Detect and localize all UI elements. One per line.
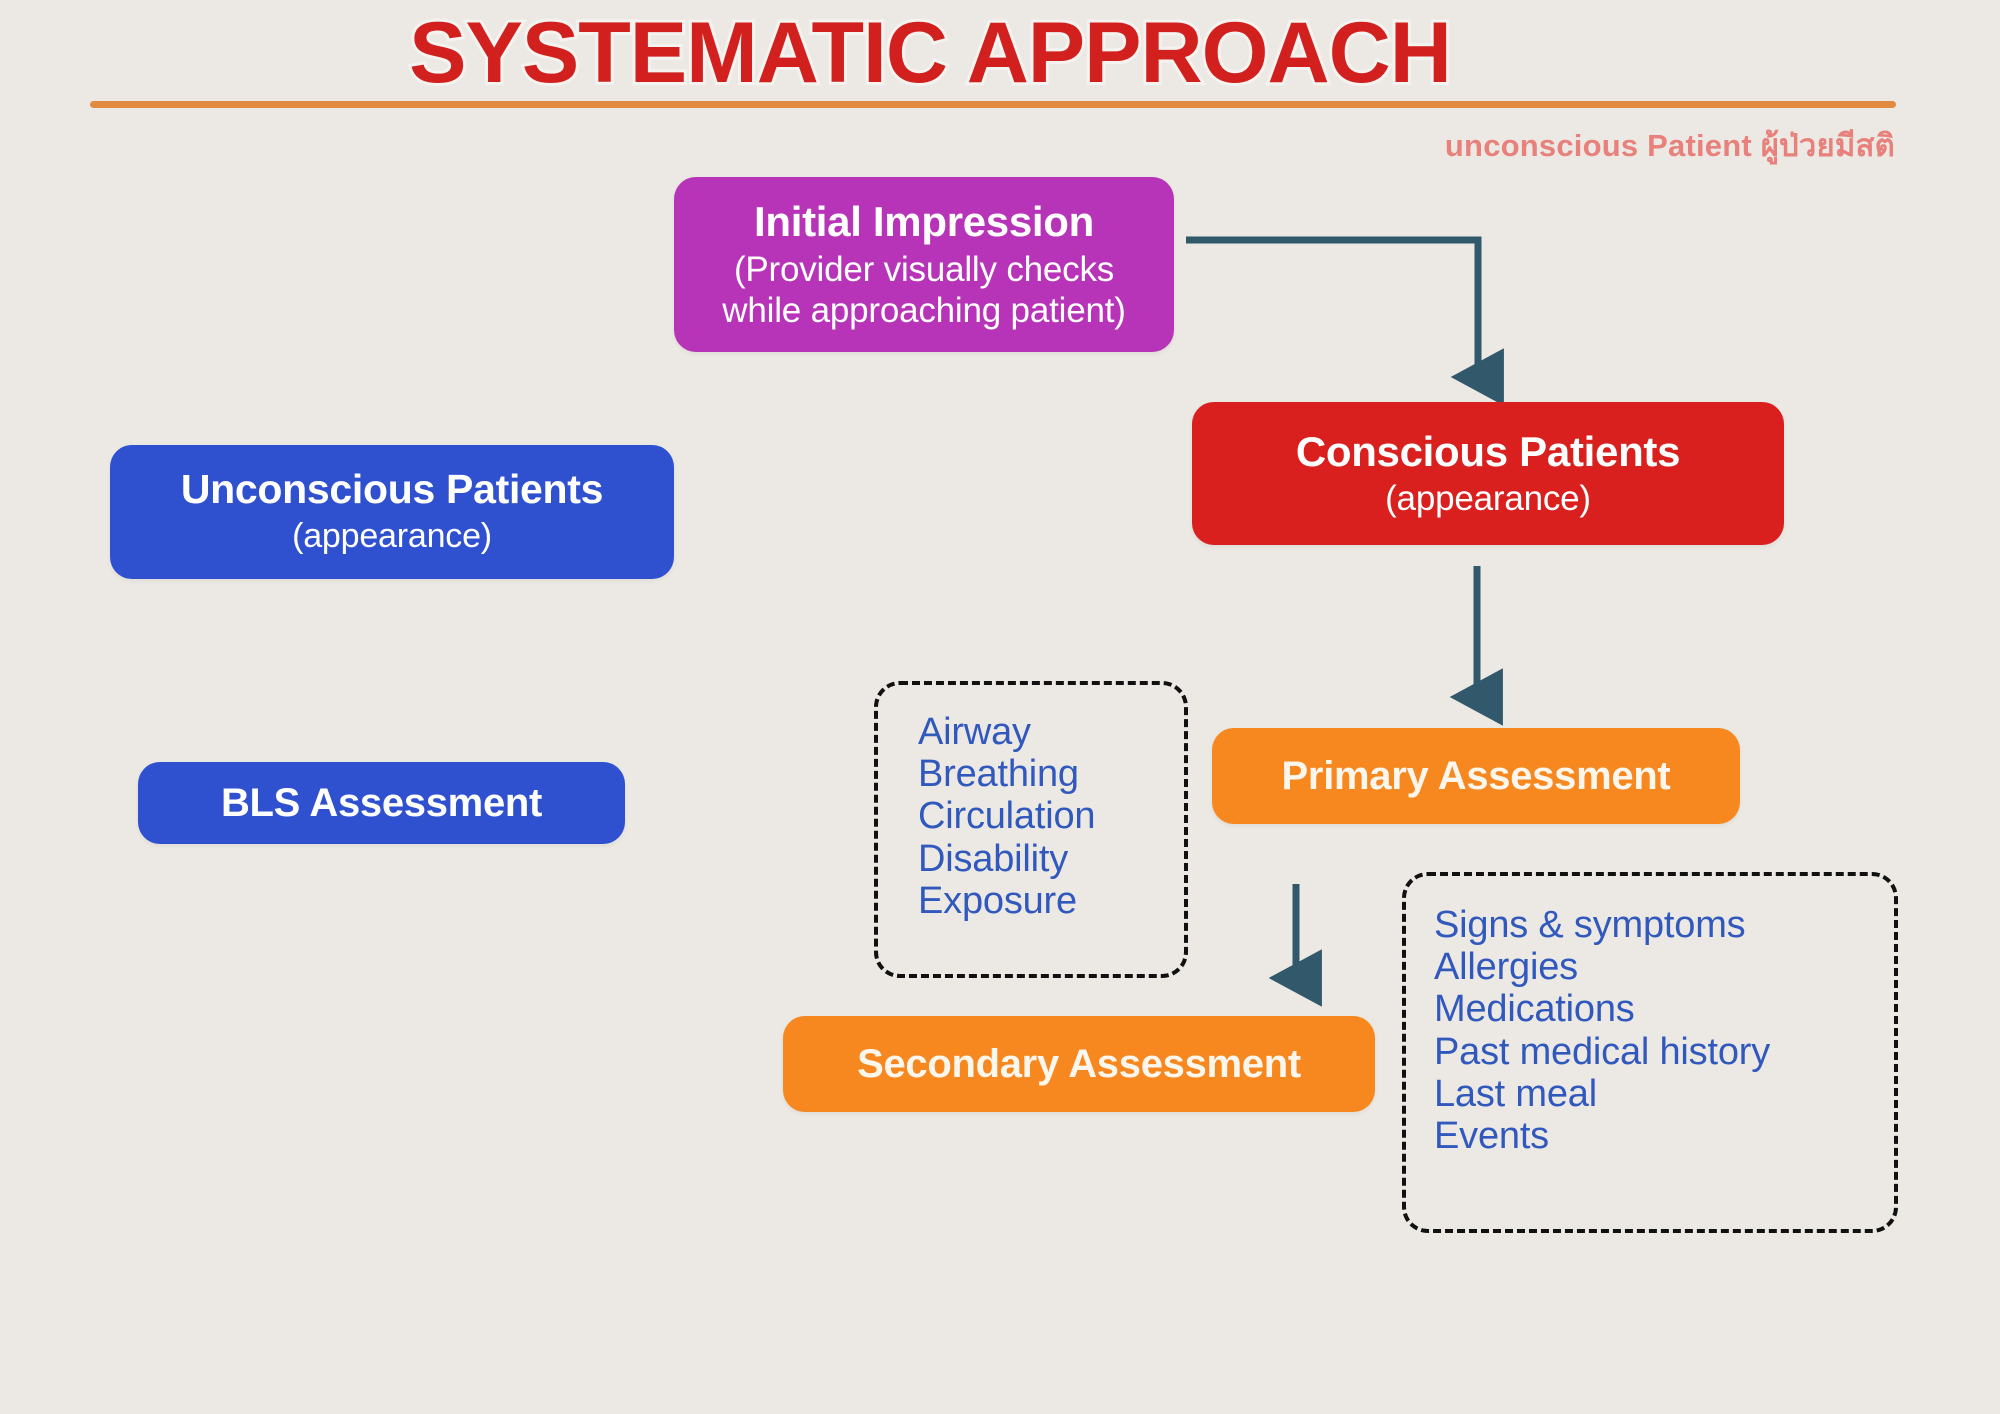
- list-item: Past medical history: [1434, 1031, 1894, 1073]
- diagram-canvas: SYSTEMATIC APPROACH unconscious Patient …: [0, 0, 2000, 1414]
- list-item: Circulation: [918, 795, 1184, 837]
- list-item: Events: [1434, 1115, 1894, 1157]
- list-item: Medications: [1434, 988, 1894, 1030]
- list-item: Signs & symptoms: [1434, 904, 1894, 946]
- list-item: Exposure: [918, 880, 1184, 922]
- node-initial-impression-subtitle-line2: while approaching patient): [722, 290, 1125, 331]
- node-primary-assessment[interactable]: Primary Assessment: [1212, 728, 1740, 824]
- title-divider-rule: [90, 101, 1896, 108]
- page-subtitle: unconscious Patient ผู้ป่วยมีสติ: [1445, 120, 1895, 170]
- panel-sample-list: Signs & symptoms Allergies Medications P…: [1402, 872, 1898, 1233]
- node-conscious-patients-subtitle: (appearance): [1385, 478, 1591, 519]
- list-item: Airway: [918, 711, 1184, 753]
- node-unconscious-patients-subtitle: (appearance): [292, 516, 492, 556]
- node-bls-assessment-title: BLS Assessment: [221, 781, 542, 826]
- node-initial-impression[interactable]: Initial Impression (Provider visually ch…: [674, 177, 1174, 352]
- node-conscious-patients[interactable]: Conscious Patients (appearance): [1192, 402, 1784, 545]
- node-bls-assessment[interactable]: BLS Assessment: [138, 762, 625, 844]
- node-unconscious-patients-title: Unconscious Patients: [181, 467, 603, 513]
- list-item: Last meal: [1434, 1073, 1894, 1115]
- list-item: Disability: [918, 838, 1184, 880]
- node-primary-assessment-title: Primary Assessment: [1282, 754, 1671, 799]
- node-initial-impression-subtitle-line1: (Provider visually checks: [734, 249, 1114, 290]
- node-secondary-assessment-title: Secondary Assessment: [857, 1042, 1301, 1087]
- node-initial-impression-title: Initial Impression: [754, 198, 1094, 245]
- node-secondary-assessment[interactable]: Secondary Assessment: [783, 1016, 1375, 1112]
- panel-abcde-list: Airway Breathing Circulation Disability …: [874, 681, 1188, 978]
- list-item: Breathing: [918, 753, 1184, 795]
- node-unconscious-patients[interactable]: Unconscious Patients (appearance): [110, 445, 674, 579]
- arrow-initial-impression-to-conscious: [1186, 240, 1478, 377]
- node-conscious-patients-title: Conscious Patients: [1296, 428, 1680, 475]
- page-title: SYSTEMATIC APPROACH: [0, 4, 1860, 103]
- list-item: Allergies: [1434, 946, 1894, 988]
